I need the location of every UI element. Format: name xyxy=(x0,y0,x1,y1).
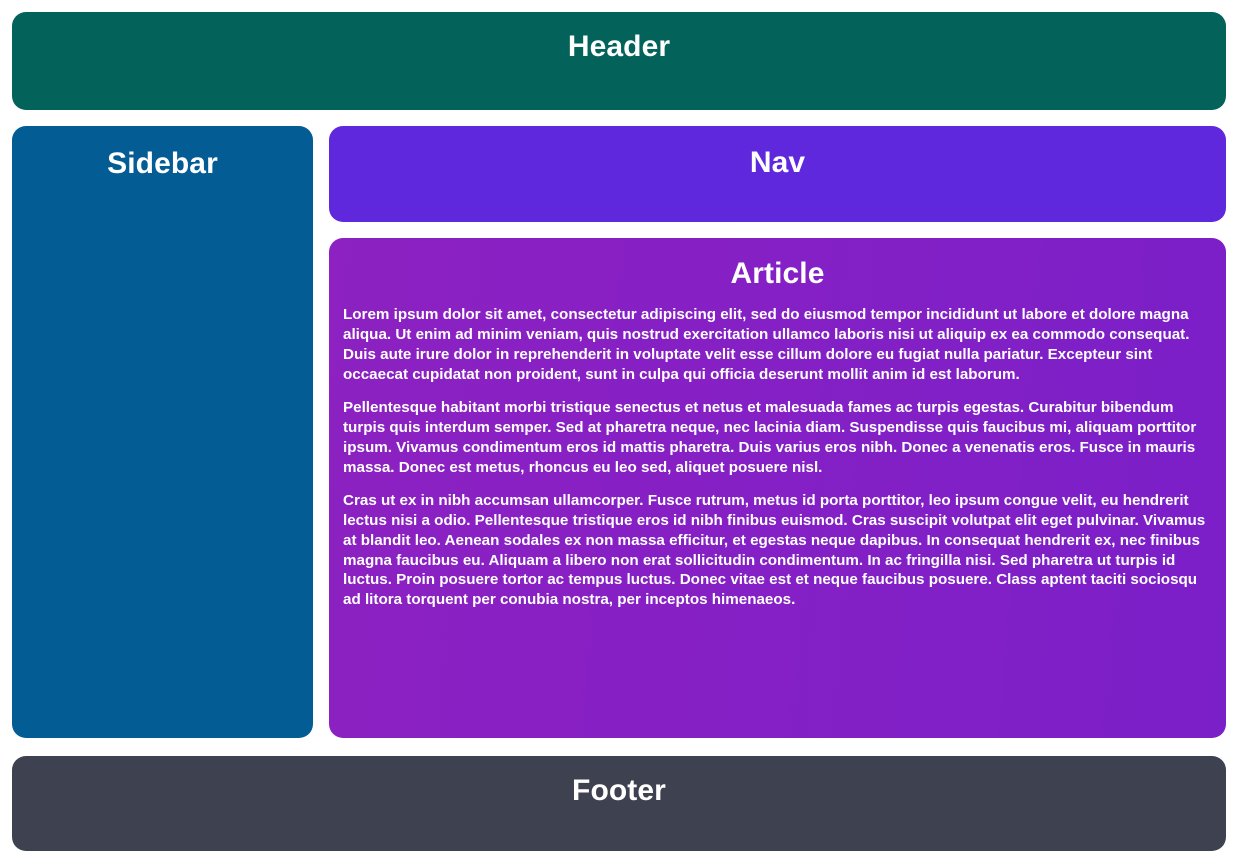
article-region: Article Lorem ipsum dolor sit amet, cons… xyxy=(329,238,1226,738)
sidebar-region: Sidebar xyxy=(12,126,313,738)
article-body: Lorem ipsum dolor sit amet, consectetur … xyxy=(343,305,1212,610)
footer-region: Footer xyxy=(12,756,1226,851)
nav-title: Nav xyxy=(329,145,1226,180)
article-title: Article xyxy=(343,256,1212,291)
footer-title: Footer xyxy=(12,773,1226,808)
article-paragraph: Lorem ipsum dolor sit amet, consectetur … xyxy=(343,305,1212,384)
header-region: Header xyxy=(12,12,1226,110)
header-title: Header xyxy=(12,29,1226,64)
page-layout: Header Sidebar Nav Article Lorem ipsum d… xyxy=(0,0,1238,867)
article-paragraph: Cras ut ex in nibh accumsan ullamcorper.… xyxy=(343,491,1212,610)
article-paragraph: Pellentesque habitant morbi tristique se… xyxy=(343,398,1212,477)
nav-region: Nav xyxy=(329,126,1226,222)
sidebar-title: Sidebar xyxy=(12,146,313,181)
